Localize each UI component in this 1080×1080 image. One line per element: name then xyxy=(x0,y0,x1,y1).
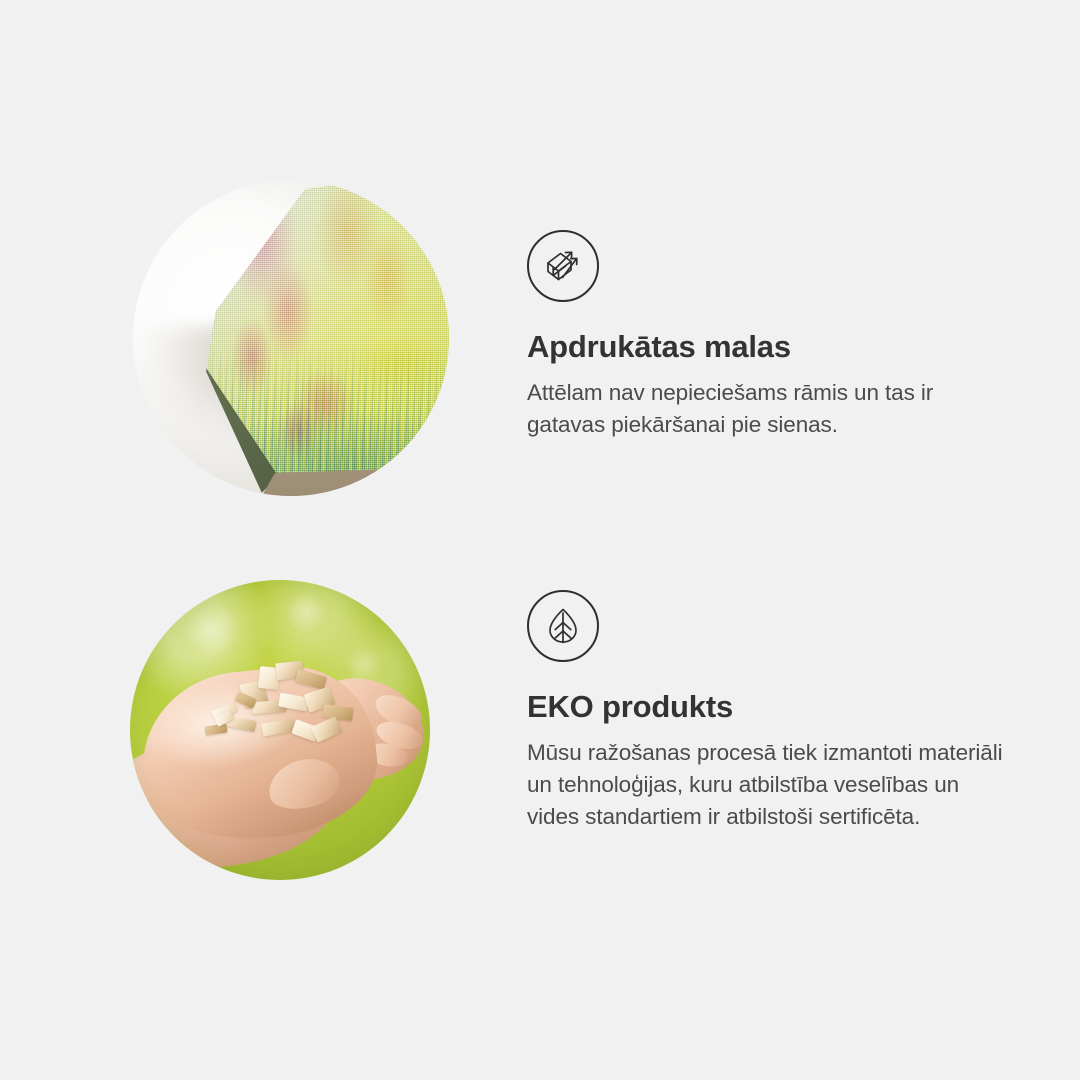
photo-vignette xyxy=(130,580,430,880)
leaf-icon xyxy=(527,590,599,662)
feature-eco-product-image xyxy=(130,580,430,880)
feature-eco-product: EKO produkts Mūsu ražošanas procesā tiek… xyxy=(0,0,1080,1080)
feature-eco-product-copy: EKO produkts Mūsu ražošanas procesā tiek… xyxy=(527,590,1027,832)
feature-eco-product-title: EKO produkts xyxy=(527,689,1027,725)
infographic-stage: Apdrukātas malas Attēlam nav nepieciešam… xyxy=(0,0,1080,1080)
feature-eco-product-description: Mūsu ražošanas procesā tiek izmantoti ma… xyxy=(527,737,1013,833)
